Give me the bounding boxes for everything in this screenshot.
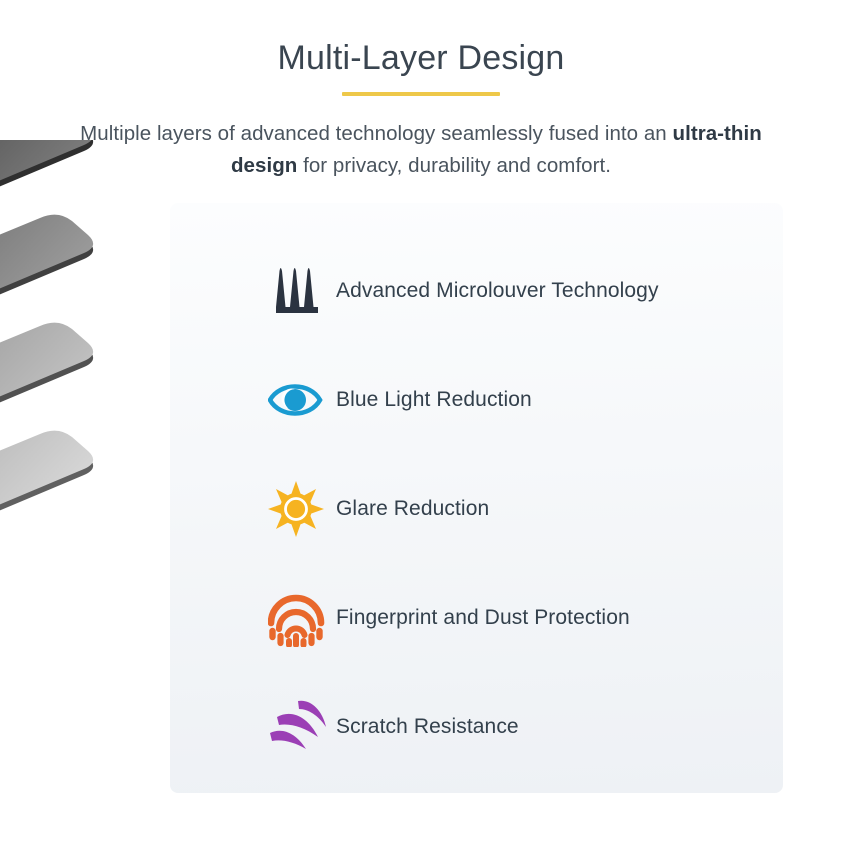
feature-label-scratch: Scratch Resistance [336, 714, 519, 739]
fingerprint-icon [268, 587, 336, 649]
page-title: Multi-Layer Design [0, 38, 842, 79]
sun-icon [268, 478, 336, 540]
feature-label-blue-light: Blue Light Reduction [336, 387, 532, 412]
feature-row-scratch: Scratch Resistance [268, 692, 783, 762]
feature-label-fingerprint: Fingerprint and Dust Protection [336, 605, 630, 630]
layer-5 [0, 431, 93, 662]
claw-scratch-icon [268, 696, 336, 758]
multi-layer-design-infographic: Multi-Layer Design Multiple layers of ad… [0, 0, 842, 842]
subtitle: Multiple layers of advanced technology s… [71, 118, 771, 182]
feature-row-glare: Glare Reduction [268, 474, 783, 544]
title-underline-rule [342, 92, 500, 96]
feature-label-glare: Glare Reduction [336, 496, 489, 521]
layer-4 [0, 323, 93, 554]
feature-row-fingerprint: Fingerprint and Dust Protection [268, 583, 783, 653]
feature-row-blue-light: Blue Light Reduction [268, 365, 783, 435]
feature-row-microlouver: Advanced Microlouver Technology [268, 256, 783, 326]
subtitle-line-1: Multiple layers of advanced technology s… [80, 122, 667, 145]
eye-icon [268, 369, 336, 431]
feature-label-microlouver: Advanced Microlouver Technology [336, 278, 659, 303]
header: Multi-Layer Design Multiple layers of ad… [0, 0, 842, 182]
microlouver-comb-icon [268, 260, 336, 322]
subtitle-line-2: for privacy, durability and comfort. [297, 154, 611, 177]
layer-3 [0, 215, 93, 446]
feature-list: Advanced Microlouver Technology Blue Lig… [268, 256, 783, 762]
